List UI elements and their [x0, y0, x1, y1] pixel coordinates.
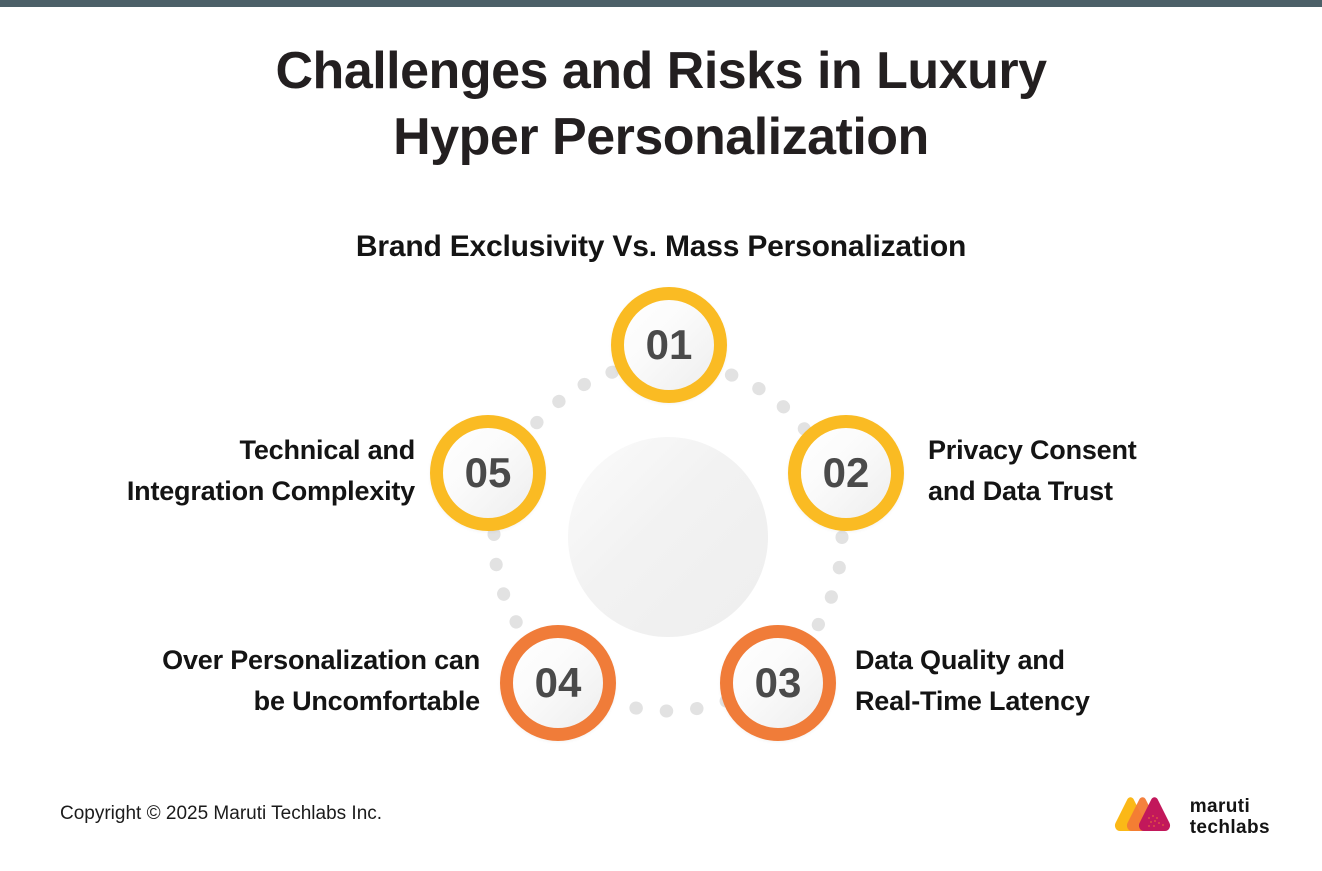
node-number-04: 04	[535, 662, 582, 704]
node-label-05-line-1: Technical and	[240, 435, 415, 465]
node-number-03: 03	[755, 662, 802, 704]
node-label-04-line-1: Over Personalization can	[162, 645, 480, 675]
node-number-01: 01	[646, 324, 693, 366]
node-label-02: Privacy Consent and Data Trust	[928, 430, 1258, 512]
node-number-05: 05	[465, 452, 512, 494]
node-circle-02[interactable]: 02	[788, 415, 904, 531]
node-label-03-line-2: Real-Time Latency	[855, 686, 1090, 716]
logo-wordmark-line-1: maruti	[1190, 796, 1270, 817]
node-label-05-line-2: Integration Complexity	[127, 476, 415, 506]
node-label-04-line-2: be Uncomfortable	[254, 686, 480, 716]
copyright-text: Copyright © 2025 Maruti Techlabs Inc.	[60, 803, 382, 825]
node-label-05: Technical and Integration Complexity	[0, 430, 415, 512]
node-circle-01[interactable]: 01	[611, 287, 727, 403]
node-number-02: 02	[823, 452, 870, 494]
node-circle-03[interactable]: 03	[720, 625, 836, 741]
node-label-02-line-2: and Data Trust	[928, 476, 1113, 506]
node-label-03-line-1: Data Quality and	[855, 645, 1065, 675]
node-circle-05[interactable]: 05	[430, 415, 546, 531]
cycle-diagram: 01 02 03 04 05 Privacy Consent and Data …	[0, 0, 1322, 871]
logo-wordmark: maruti techlabs	[1190, 796, 1270, 838]
node-label-03: Data Quality and Real-Time Latency	[855, 640, 1205, 722]
node-label-02-line-1: Privacy Consent	[928, 435, 1137, 465]
node-label-04: Over Personalization can be Uncomfortabl…	[20, 640, 480, 722]
maruti-techlabs-logo: maruti techlabs	[1112, 795, 1270, 839]
logo-wordmark-line-2: techlabs	[1190, 817, 1270, 838]
maruti-logo-mark-icon	[1112, 795, 1178, 839]
node-circle-04[interactable]: 04	[500, 625, 616, 741]
